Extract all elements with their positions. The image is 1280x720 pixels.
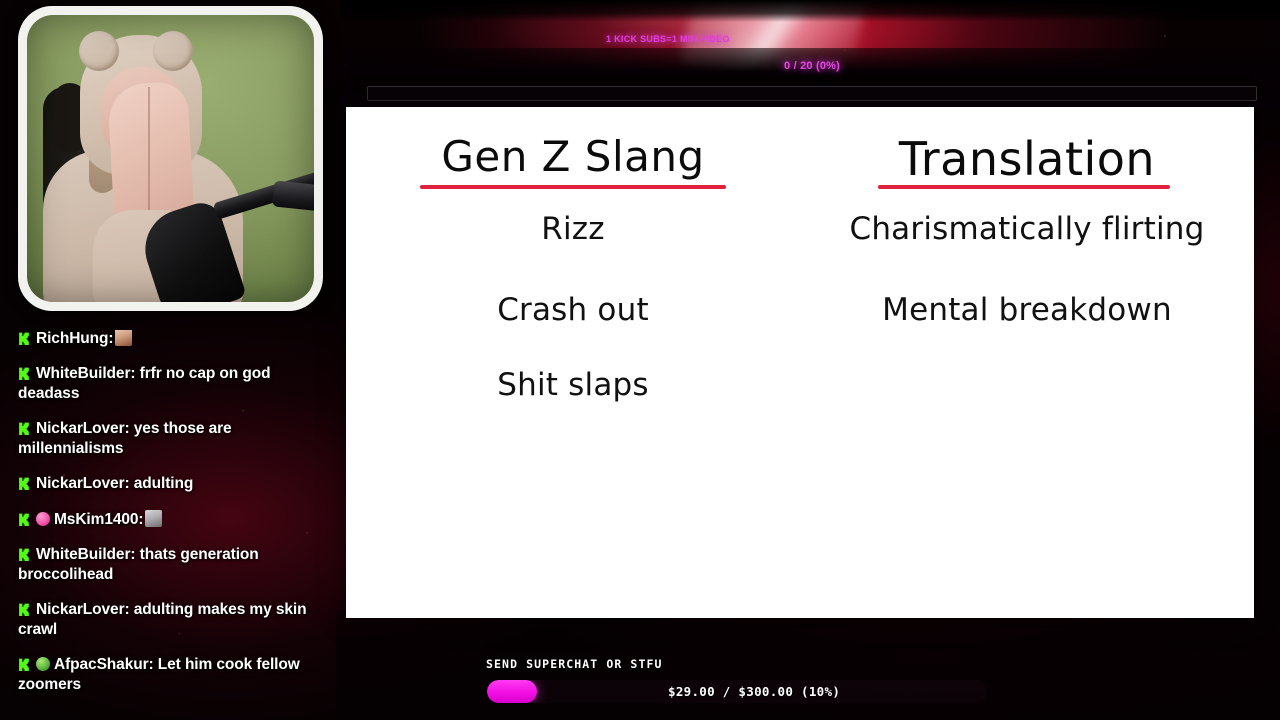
chat-username[interactable]: RichHung: [36, 330, 113, 347]
kick-logo-icon [18, 512, 31, 526]
kick-logo-icon [18, 657, 31, 671]
chat-message-list: RichHung:WhiteBuilder: frfr no cap on go… [0, 330, 340, 694]
translation-text-1: Charismatically flirting [800, 211, 1254, 247]
slang-term-3: Shit slaps [346, 367, 800, 403]
chat-username[interactable]: AfpacShakur: [54, 656, 154, 673]
whiteboard-slide: Gen Z Slang Rizz Crash out Shit slaps Tr… [346, 107, 1254, 618]
superchat-goal-label: SEND SUPERCHAT OR STFU [486, 657, 663, 671]
whiteboard-column-slang: Gen Z Slang Rizz Crash out Shit slaps [346, 107, 800, 618]
column-heading-slang: Gen Z Slang [346, 135, 800, 179]
sub-goal-progress-bar [367, 86, 1257, 101]
kick-logo-icon [18, 331, 31, 345]
whiteboard-column-translation: Translation Charismatically flirting Men… [800, 107, 1254, 618]
slang-term-1: Rizz [346, 211, 800, 247]
chat-username[interactable]: WhiteBuilder: [36, 365, 135, 382]
webcam-frame [18, 6, 323, 311]
chat-username[interactable]: MsKim1400: [54, 511, 143, 528]
chat-message: NickarLover: yes those are millennialism… [18, 419, 330, 458]
column-heading-translation: Translation [800, 135, 1254, 183]
chat-message: WhiteBuilder: thats generation broccolih… [18, 545, 330, 584]
kick-logo-icon [18, 366, 31, 380]
background-bottom-shade [336, 610, 1280, 720]
slang-term-2: Crash out [346, 292, 800, 328]
chat-message: MsKim1400: [18, 510, 330, 530]
chat-message: RichHung: [18, 330, 330, 348]
sub-goal-label: 1 KICK SUBS=1 MIN VIDEO [606, 34, 730, 44]
kick-logo-icon [18, 547, 31, 561]
chat-panel[interactable]: RichHung:WhiteBuilder: frfr no cap on go… [0, 330, 340, 720]
chat-message: NickarLover: adulting [18, 474, 330, 494]
chat-message: AfpacShakur: Let him cook fellow zoomers [18, 655, 330, 694]
chat-emote-cat-icon [145, 510, 162, 527]
chat-username[interactable]: NickarLover: [36, 420, 130, 437]
chat-message: NickarLover: adulting makes my skin craw… [18, 600, 330, 639]
stream-overlay-stage: 1 KICK SUBS=1 MIN VIDEO 0 / 20 (0%) Gen … [0, 0, 1280, 720]
chat-username[interactable]: NickarLover: [36, 601, 130, 618]
chat-username[interactable]: NickarLover: [36, 475, 130, 492]
chat-message: WhiteBuilder: frfr no cap on god deadass [18, 364, 330, 403]
background-top-shade [340, 0, 1280, 22]
subscriber-badge-icon [36, 657, 50, 671]
superchat-amount-text: $29.00 / $300.00 (10%) [668, 684, 840, 699]
webcam-vignette [27, 15, 314, 302]
kick-logo-icon [18, 421, 31, 435]
chat-emote-face-icon [115, 330, 132, 346]
subscriber-badge-icon [36, 512, 50, 526]
superchat-progress-fill [487, 680, 537, 703]
heading-underline-slang [420, 185, 726, 189]
whiteboard-columns: Gen Z Slang Rizz Crash out Shit slaps Tr… [346, 107, 1254, 618]
kick-logo-icon [18, 476, 31, 490]
translation-text-2: Mental breakdown [800, 292, 1254, 328]
sub-goal-count: 0 / 20 (0%) [784, 60, 840, 72]
kick-logo-icon [18, 602, 31, 616]
heading-underline-translation [878, 185, 1170, 189]
chat-text: adulting [130, 475, 194, 492]
chat-username[interactable]: WhiteBuilder: [36, 546, 135, 563]
webcam-feed [27, 15, 314, 302]
